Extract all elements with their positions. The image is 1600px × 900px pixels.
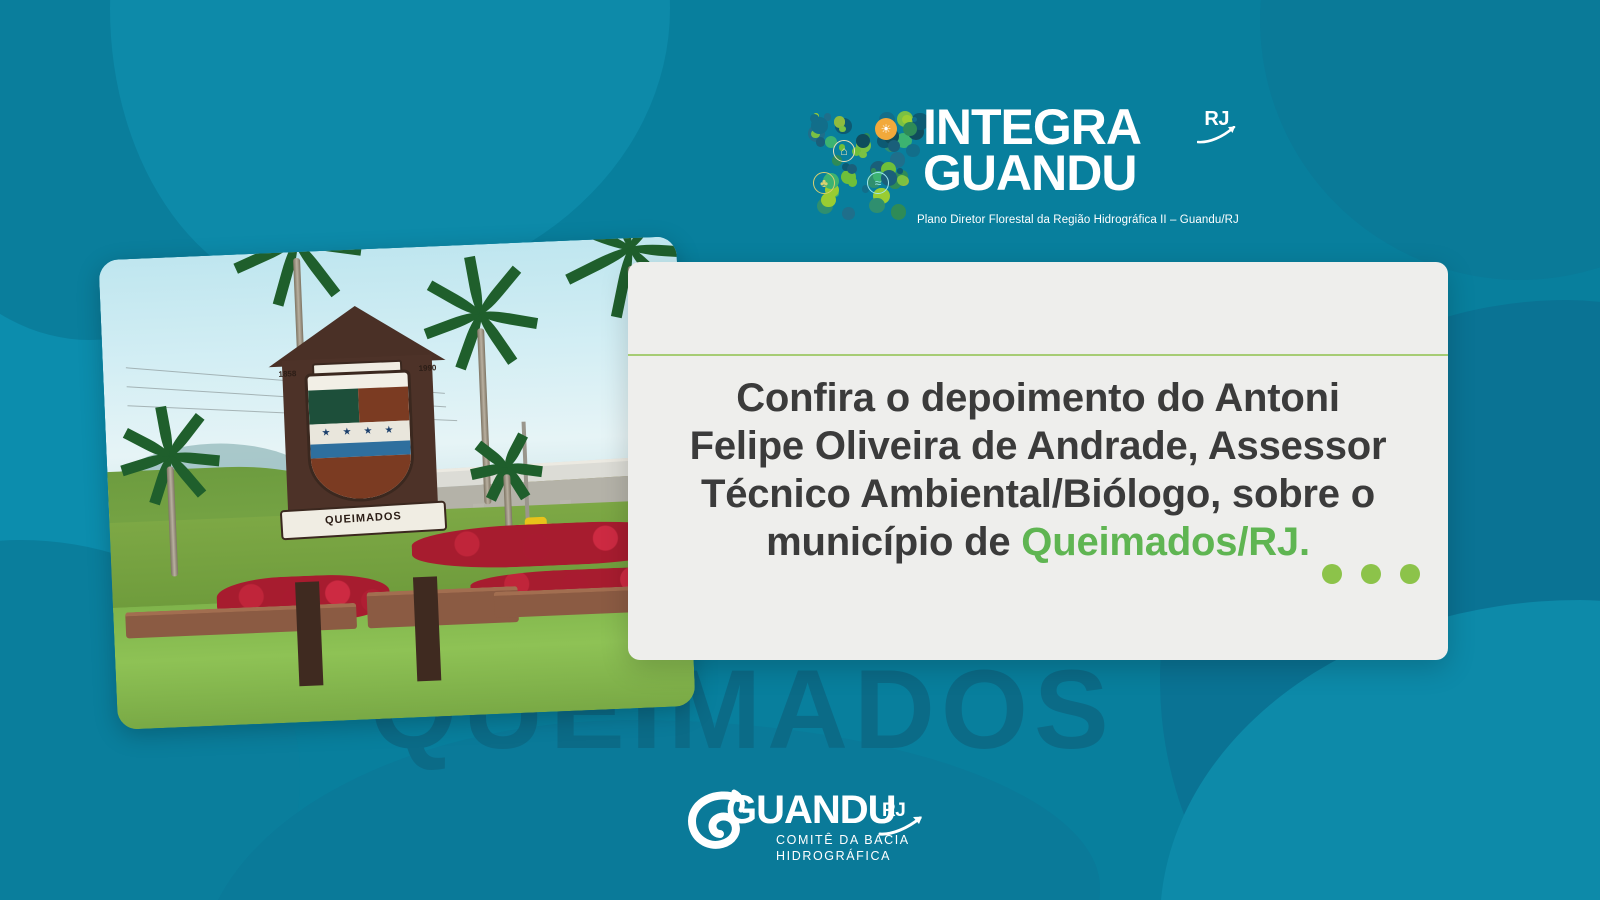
card-message-text: Confira o depoimento do Antoni Felipe Ol…: [674, 374, 1402, 566]
guandu-subtitle: COMITÊ DA BACIA HIDROGRÁFICA: [776, 832, 910, 864]
tree-icon: ♣: [813, 172, 835, 194]
monument-city-ribbon: QUEIMADOS: [280, 501, 447, 541]
dot-2-icon: [1361, 564, 1381, 584]
message-highlight: Queimados/RJ.: [1021, 520, 1310, 564]
cluster-dot: [859, 151, 866, 158]
water-drop-icon: ≈: [867, 172, 889, 194]
cluster-dot: [842, 207, 855, 220]
monument-year-left: 1858: [278, 370, 296, 380]
cluster-dot: [810, 114, 819, 123]
guandu-committee-logo: GUANDU RJ COMITÊ DA BACIA HIDROGRÁFICA: [0, 782, 1600, 862]
background-blob-right-top: [1260, 0, 1600, 280]
cluster-dot: [869, 198, 885, 214]
cluster-dot: [897, 175, 907, 185]
cluster-dot: [912, 117, 917, 122]
queimados-city-photo: BEM-VINDO A 1858 1990 QUEIMADOS: [98, 236, 695, 730]
guandu-subtitle-line2: HIDROGRÁFICA: [776, 848, 910, 864]
monument-leg-left: [295, 582, 323, 687]
message-card: Confira o depoimento do Antoni Felipe Ol…: [628, 262, 1448, 660]
card-dots-decoration: [1322, 564, 1420, 584]
cluster-dot: [888, 140, 900, 152]
integra-guandu-wordmark: INTEGRA GUANDU RJ: [923, 104, 1223, 196]
cluster-dot: [906, 144, 920, 158]
cluster-dot: [847, 164, 857, 174]
monument-leg-right: [413, 577, 441, 682]
people-icon: ⌂: [833, 140, 855, 162]
monument-city-name: QUEIMADOS: [282, 508, 444, 530]
guandu-wordmark: GUANDU: [726, 790, 896, 830]
integra-guandu-logo: ☀⌂♣≈ INTEGRA GUANDU RJ Plano Diretor Flo…: [805, 104, 1225, 232]
cluster-dot: [891, 204, 906, 219]
dot-cluster-icon: ☀⌂♣≈: [805, 110, 927, 216]
logo-tagline: Plano Diretor Florestal da Região Hidrog…: [917, 214, 1239, 226]
cluster-dot: [897, 168, 902, 173]
monument-year-right: 1990: [418, 364, 436, 374]
photo-palm-tree: [129, 425, 215, 578]
cluster-dot: [816, 137, 826, 147]
guandu-subtitle-line1: COMITÊ DA BACIA: [776, 832, 910, 848]
monument-coat-of-arms: [305, 370, 416, 504]
card-divider: [628, 354, 1448, 356]
dot-1-icon: [1322, 564, 1342, 584]
cluster-dot: [848, 177, 857, 186]
sun-icon: ☀: [875, 118, 897, 140]
dot-3-icon: [1400, 564, 1420, 584]
photo-welcome-monument: BEM-VINDO A 1858 1990 QUEIMADOS: [280, 303, 442, 600]
swoosh-icon: [1197, 126, 1237, 146]
logo-line-integra: INTEGRA: [923, 104, 1223, 150]
cluster-dot: [839, 126, 845, 132]
logo-line-guandu: GUANDU: [923, 150, 1223, 196]
monument-body: BEM-VINDO A 1858 1990 QUEIMADOS: [282, 355, 439, 531]
photo-card: BEM-VINDO A 1858 1990 QUEIMADOS: [98, 236, 695, 730]
